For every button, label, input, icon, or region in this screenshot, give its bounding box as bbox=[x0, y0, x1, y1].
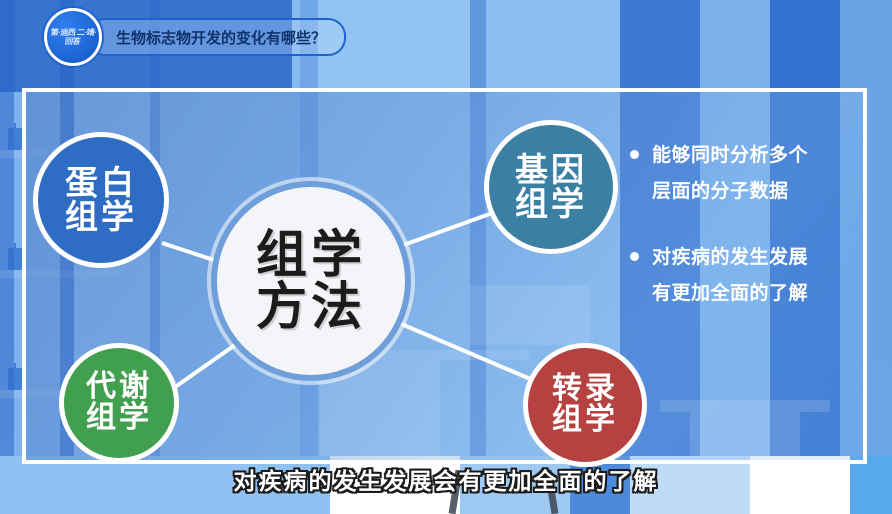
bullet-dot-icon bbox=[630, 150, 639, 159]
node-center-omics-methods[interactable]: 组学 方法 bbox=[211, 181, 411, 381]
node-metabolomics[interactable]: 代谢 组学 bbox=[59, 343, 179, 463]
bullet-list: 能够同时分析多个 层面的分子数据 对疾病的发生发展 有更加全面的了解 bbox=[630, 138, 880, 342]
node-center-line1: 组学 bbox=[256, 229, 366, 281]
screenshot-root: 第·迪西 二·靖·回答 生物标志物开发的变化有哪些？ 蛋白 组学 基因 组学 代… bbox=[0, 0, 892, 514]
node-proteomics[interactable]: 蛋白 组学 bbox=[33, 132, 169, 268]
question-chip[interactable]: 生物标志物开发的变化有哪些？ bbox=[88, 18, 346, 56]
node-proteomics-line2: 组学 bbox=[65, 200, 137, 234]
node-genomics-line2: 组学 bbox=[515, 187, 587, 221]
channel-logo-text: 第·迪西 二·靖·回答 bbox=[46, 28, 100, 46]
bottle-1 bbox=[8, 128, 22, 150]
bottle-2 bbox=[8, 248, 22, 270]
bullet-1-line1: 能够同时分析多个 bbox=[652, 138, 808, 174]
node-transcriptomics-line2: 组学 bbox=[552, 405, 618, 436]
bullet-1-line2: 层面的分子数据 bbox=[652, 174, 808, 210]
bullet-item-2: 对疾病的发生发展 有更加全面的了解 bbox=[630, 240, 880, 312]
node-genomics-line1: 基因 bbox=[515, 153, 587, 187]
caption-subtitle: 对疾病的发生发展会有更加全面的了解 bbox=[0, 462, 892, 496]
bullet-item-1: 能够同时分析多个 层面的分子数据 bbox=[630, 138, 880, 210]
node-genomics[interactable]: 基因 组学 bbox=[484, 120, 618, 254]
bottle-3 bbox=[8, 368, 22, 390]
bullet-2-line1: 对疾病的发生发展 bbox=[652, 240, 808, 276]
node-center-line2: 方法 bbox=[256, 281, 366, 333]
node-metabolomics-line2: 组学 bbox=[86, 403, 152, 434]
node-metabolomics-line1: 代谢 bbox=[86, 372, 152, 403]
header-bar: 第·迪西 二·靖·回答 生物标志物开发的变化有哪些？ bbox=[44, 16, 346, 58]
bullet-2-line2: 有更加全面的了解 bbox=[652, 276, 808, 312]
bullet-dot-icon bbox=[630, 252, 639, 261]
question-text: 生物标志物开发的变化有哪些？ bbox=[116, 27, 326, 48]
node-transcriptomics-line1: 转录 bbox=[552, 374, 618, 405]
channel-logo-badge: 第·迪西 二·靖·回答 bbox=[44, 8, 102, 66]
node-transcriptomics[interactable]: 转录 组学 bbox=[523, 343, 647, 467]
node-proteomics-line1: 蛋白 bbox=[65, 166, 137, 200]
